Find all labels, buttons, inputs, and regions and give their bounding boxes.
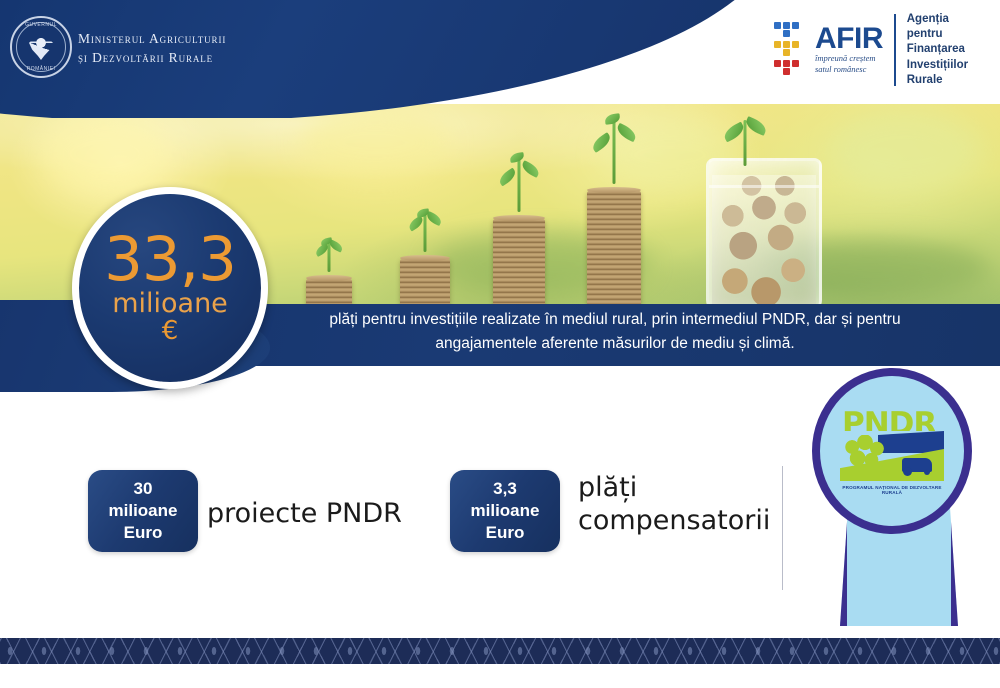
headline-amount-unit: milioane xyxy=(112,290,228,318)
stat-label-line2: compensatorii xyxy=(578,505,770,538)
sprout-stem xyxy=(424,212,427,252)
pndr-caption: PROGRAMUL NAȚIONAL DE DEZVOLTARE RURALĂ xyxy=(838,485,946,495)
sprout-stem xyxy=(744,120,747,166)
afir-full-name: Agenția pentru Finanțarea Investițiilor … xyxy=(907,12,992,88)
afir-name-line4: Rurale xyxy=(907,73,992,88)
afir-logo: AFIR împreună creștem satul românesc Age… xyxy=(774,8,992,92)
jar-lip xyxy=(709,185,819,188)
seal-top-text: GUVERNUL xyxy=(12,22,70,28)
stat-label-line1: proiecte PNDR xyxy=(207,498,402,531)
afir-name-line2: pentru Finanțarea xyxy=(907,27,992,57)
sprout-leaf xyxy=(605,113,621,125)
sprout-leaf xyxy=(520,160,541,178)
bottom-decorative-band xyxy=(0,638,1000,664)
infographic-page: GUVERNUL ROMÂNIEI Ministerul Agriculturi… xyxy=(0,0,1000,688)
afir-divider xyxy=(894,14,896,86)
afir-tagline-line2: satul românesc xyxy=(815,65,883,75)
hero-caption-line1: plăți pentru investițiile realizate în m… xyxy=(329,311,900,328)
sprout xyxy=(408,208,442,252)
headline-amount-currency: € xyxy=(162,318,179,344)
hero-caption: plăți pentru investițiile realizate în m… xyxy=(250,308,980,356)
ministry-title-line1: Ministerul Agriculturii xyxy=(78,30,226,49)
tree-trunk xyxy=(864,467,868,481)
sprout-leaf xyxy=(590,132,614,153)
afir-tagline-line1: împreună creștem xyxy=(815,54,883,64)
bokeh-blob xyxy=(300,108,450,178)
government-seal-logo: GUVERNUL ROMÂNIEI xyxy=(10,16,72,78)
headline-amount-badge: 33,3 milioane € xyxy=(72,187,268,389)
pndr-landscape-illustration xyxy=(840,431,944,481)
tractor-icon xyxy=(902,458,932,472)
coin-stack-3 xyxy=(493,212,545,314)
stat-pill-compensatory: 3,3 milioane Euro xyxy=(450,470,560,552)
ministry-title: Ministerul Agriculturii și Dezvoltării R… xyxy=(78,30,226,67)
sprout xyxy=(314,238,344,272)
wheat-icon-red xyxy=(774,60,804,77)
coin-column xyxy=(587,190,641,314)
afir-acronym: AFIR xyxy=(815,25,883,54)
sprout-leaf xyxy=(509,152,524,163)
sprout-stem xyxy=(518,154,521,212)
stat-value: 30 xyxy=(134,478,153,500)
seal-bottom-text: ROMÂNIEI xyxy=(12,66,70,72)
sprout-stem xyxy=(613,114,616,184)
headline-amount-value: 33,3 xyxy=(104,232,236,288)
afir-name-line1: Agenția xyxy=(907,12,992,27)
afir-name-line3: Investițiilor xyxy=(907,58,992,73)
hero-caption-line2: angajamentele aferente măsurilor de medi… xyxy=(435,335,794,352)
stat-label-compensatory: plăți compensatorii xyxy=(578,472,770,538)
stat-label-projects: proiecte PNDR xyxy=(207,498,402,531)
vertical-divider xyxy=(782,466,783,590)
jar-sprout xyxy=(723,114,767,166)
stat-currency: Euro xyxy=(486,522,525,544)
stat-unit: milioane xyxy=(109,500,178,522)
band-lozenge-pattern xyxy=(0,638,1000,664)
coin-stack-4 xyxy=(587,184,641,314)
pndr-magnifier-badge: PNDR PROGRAMUL NAȚIONAL DE DEZVOLTARE RU… xyxy=(812,368,972,626)
sprout xyxy=(591,110,637,184)
sprout-leaf xyxy=(615,123,639,143)
afir-wordmark: AFIR împreună creștem satul românesc xyxy=(815,25,883,75)
stat-currency: Euro xyxy=(124,522,163,544)
sprout-leaf xyxy=(407,215,425,231)
pndr-logo: PNDR PROGRAMUL NAȚIONAL DE DEZVOLTARE RU… xyxy=(836,409,948,493)
sprout-leaf xyxy=(744,116,769,136)
magnifier-lens: PNDR PROGRAMUL NAȚIONAL DE DEZVOLTARE RU… xyxy=(812,368,972,534)
jar-coins xyxy=(712,175,816,311)
wheat-icon-yellow xyxy=(774,41,804,58)
wheat-icon-blue xyxy=(774,22,804,39)
bokeh-blob xyxy=(40,114,170,194)
coin-column xyxy=(493,218,545,314)
ministry-title-line2: și Dezvoltării Rurale xyxy=(78,49,226,68)
bokeh-blob xyxy=(830,110,980,190)
sprout xyxy=(498,150,540,212)
stat-label-line1: plăți xyxy=(578,472,770,505)
sprout-leaf xyxy=(497,168,518,187)
afir-wheat-icons xyxy=(774,22,808,78)
coin-jar xyxy=(706,158,822,314)
stat-value: 3,3 xyxy=(493,478,517,500)
stat-pill-projects: 30 milioane Euro xyxy=(88,470,198,552)
stat-unit: milioane xyxy=(471,500,540,522)
